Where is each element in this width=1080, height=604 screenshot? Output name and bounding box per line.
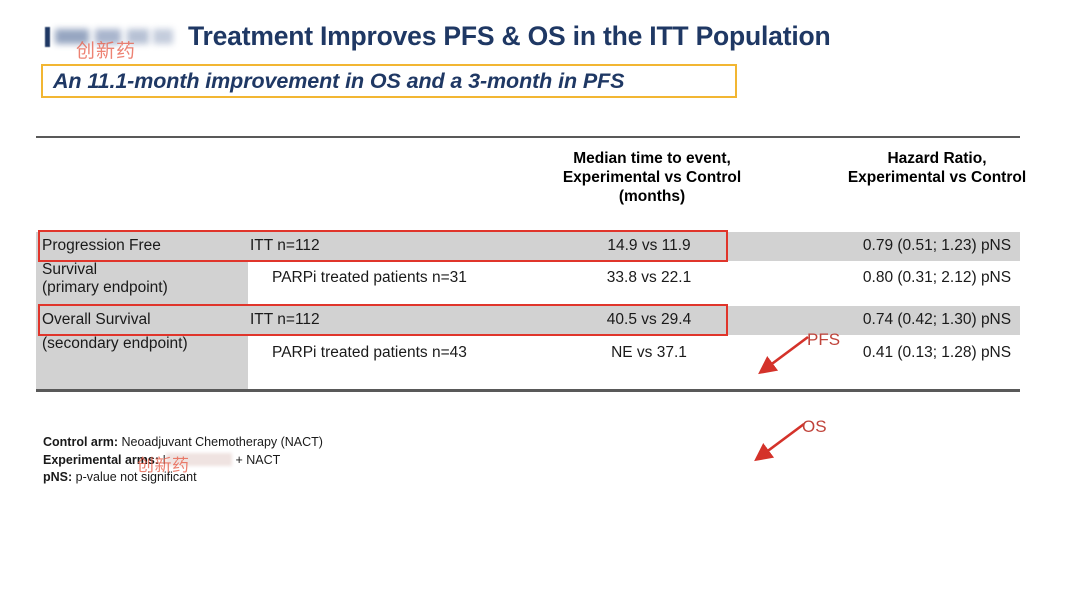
table-row-1-stub-line1: Progression Free [42,237,248,255]
logo-block-4 [153,29,173,44]
hazard-header-line2: Experimental vs Control [796,168,1078,187]
median-header-line1: Median time to event, [512,149,792,168]
slide-header: Treatment Improves PFS & OS in the ITT P… [0,0,1080,110]
table-row-2-median: 33.8 vs 22.1 [504,269,794,287]
table-row-1-hazard: 0.79 (0.51; 1.23) pNS [796,237,1078,255]
footnote-experimental-arms: Experimental arms: I + NACT [43,452,323,470]
footnote-pns: pNS: p-value not significant [43,469,323,487]
column-header-hazard-ratio: Hazard Ratio, Experimental vs Control [796,149,1078,187]
footnote-experimental-arms-label: Experimental arms [43,453,155,467]
footnotes: Control arm: Neoadjuvant Chemotherapy (N… [43,434,323,487]
company-logo-redacted [45,26,175,48]
table-row-1-stub-line3: (primary endpoint) [42,279,248,297]
median-header-line3: (months) [512,187,792,206]
footnote-control-arm-label: Control arm [43,435,114,449]
footnote-experimental-arms-text: + NACT [232,453,280,467]
logo-block-3 [127,29,149,44]
table-row-3-stub-line1: Overall Survival [42,311,248,329]
logo-block-1 [55,29,89,44]
subtitle-text: An 11.1-month improvement in OS and a 3-… [43,69,624,94]
table-row-3-median: 40.5 vs 29.4 [504,311,794,329]
annotation-label-pfs: PFS [807,330,840,350]
results-table: Median time to event, Experimental vs Co… [36,136,1020,392]
table-row-1-population: ITT n=112 [250,237,490,255]
median-header-line2: Experimental vs Control [512,168,792,187]
logo-bar [45,27,50,47]
table-row-3-hazard: 0.74 (0.42; 1.30) pNS [796,311,1078,329]
subtitle-banner: An 11.1-month improvement in OS and a 3-… [41,64,737,98]
table-row-3-stub-line2: (secondary endpoint) [42,335,248,353]
table-row-4-median: NE vs 37.1 [504,344,794,362]
annotation-label-os: OS [802,417,827,437]
footnote-control-arm-text: Neoadjuvant Chemotherapy (NACT) [118,435,323,449]
table-row-3-population: ITT n=112 [250,311,490,329]
arrow-icon-pfs [752,334,814,378]
footnote-pns-label: pNS [43,470,68,484]
table-row-4-population: PARPi treated patients n=43 [250,344,490,362]
hazard-header-line1: Hazard Ratio, [796,149,1078,168]
page-title: Treatment Improves PFS & OS in the ITT P… [188,21,830,52]
arrow-icon-os [748,421,810,465]
table-row-1-stub-line2: Survival [42,261,248,279]
table-row-2-population: PARPi treated patients n=31 [250,269,490,287]
table-bottom-rule [36,389,1020,392]
redacted-drug-name [166,453,232,466]
logo-block-2 [95,29,121,44]
footnote-control-arm: Control arm: Neoadjuvant Chemotherapy (N… [43,434,323,452]
column-header-median: Median time to event, Experimental vs Co… [512,149,792,206]
table-row-2-hazard: 0.80 (0.31; 2.12) pNS [796,269,1078,287]
footnote-pns-text: p-value not significant [72,470,196,484]
table-row-1-median: 14.9 vs 11.9 [504,237,794,255]
table-top-rule [36,136,1020,138]
